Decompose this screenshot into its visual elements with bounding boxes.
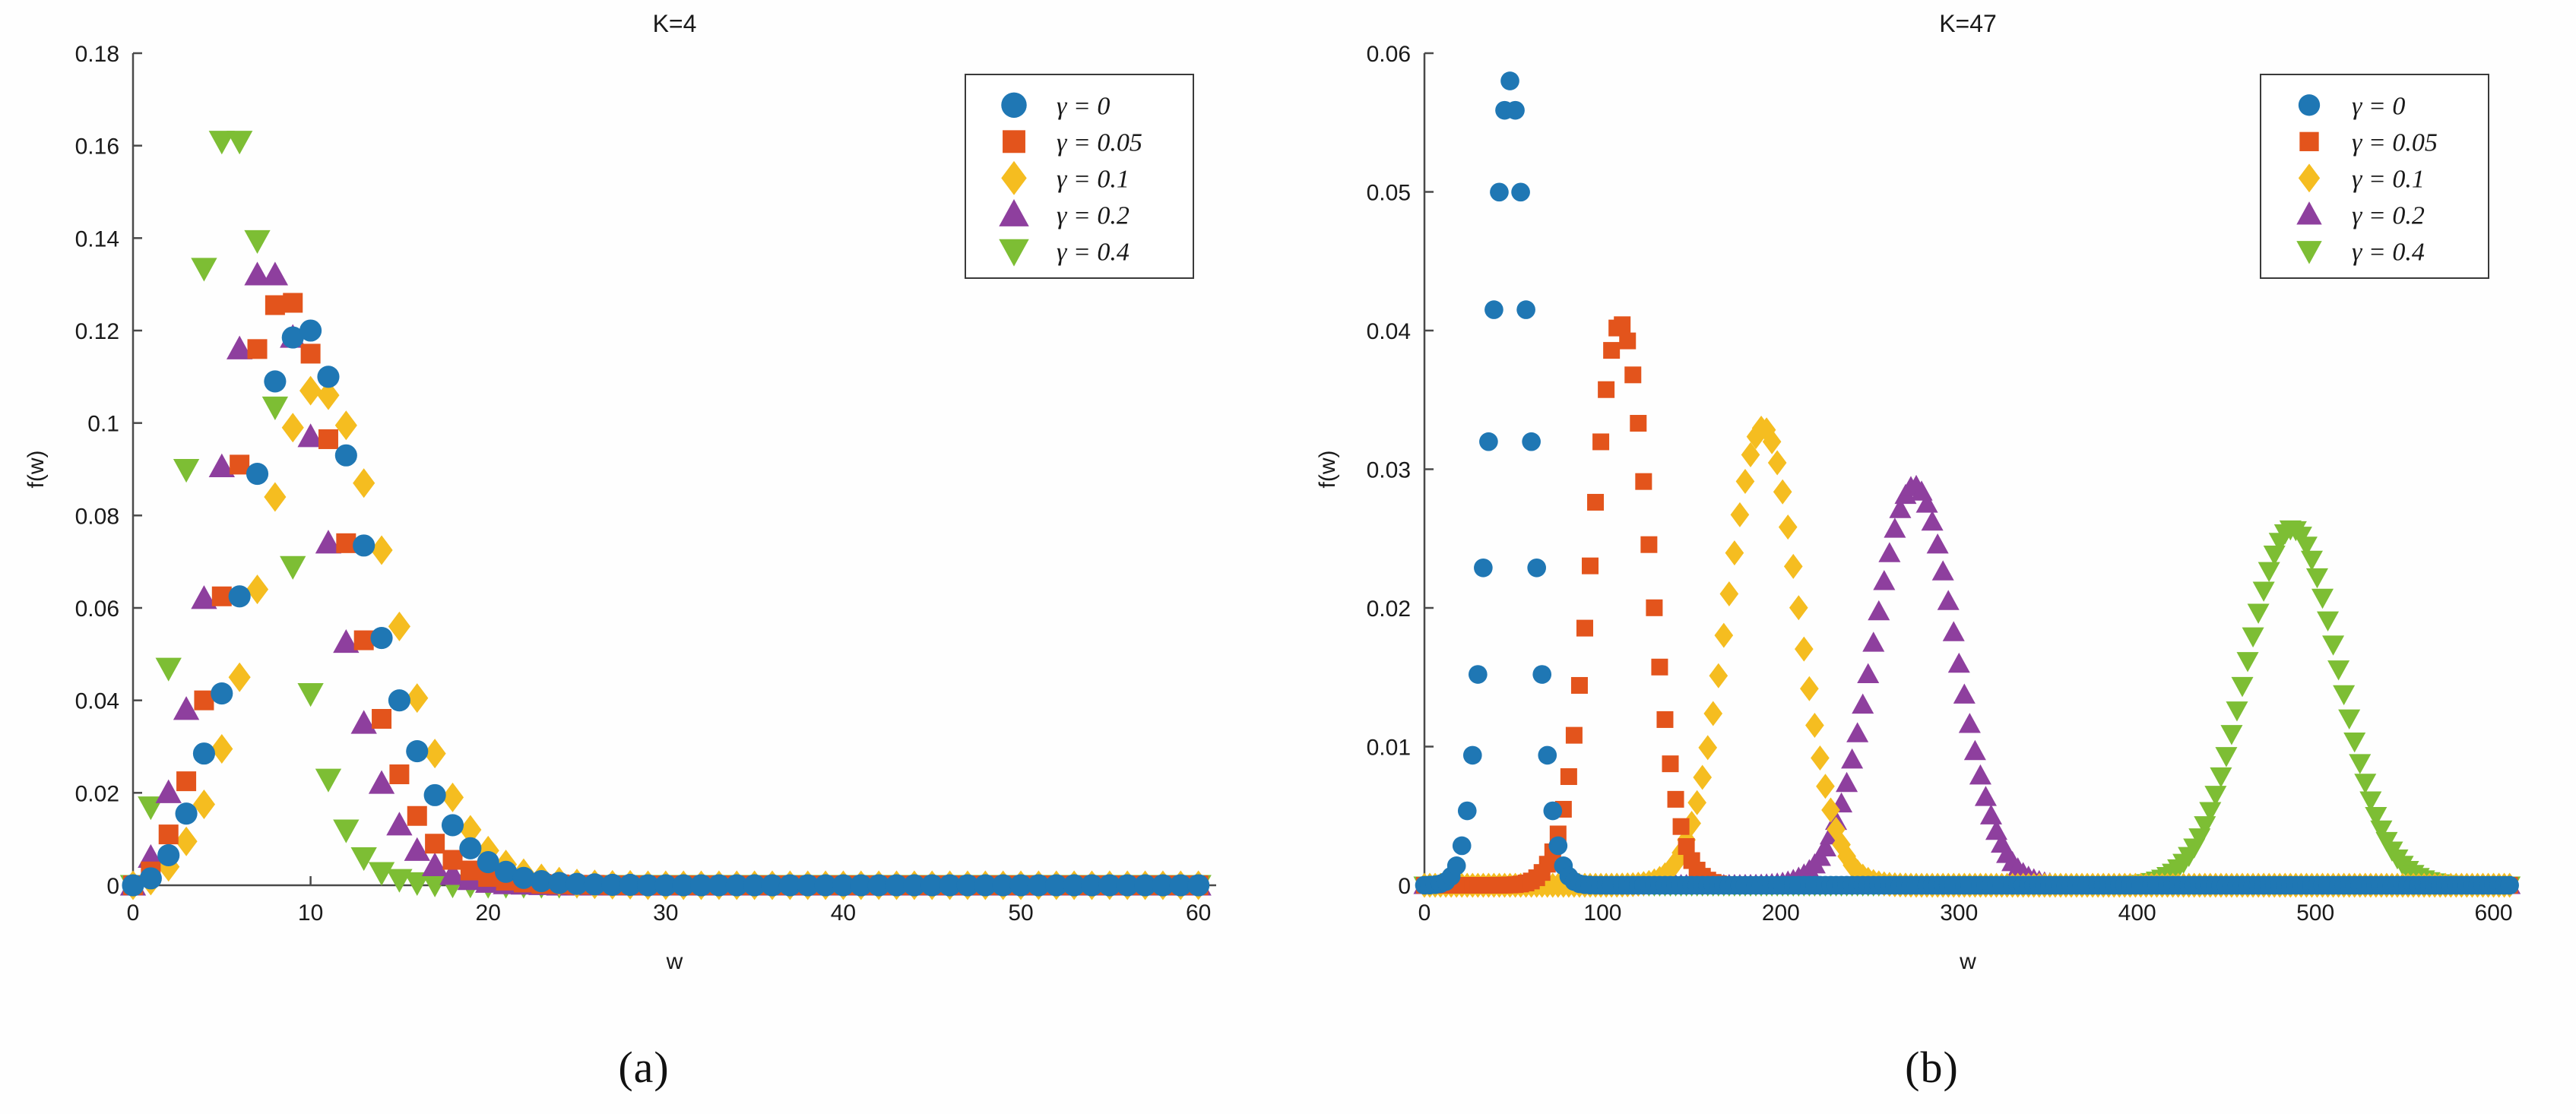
- data-point: [1592, 433, 1609, 450]
- panel-b-x-tick-label-6: 600: [2475, 900, 2513, 926]
- data-point: [264, 370, 286, 392]
- data-point: [1516, 300, 1535, 319]
- panel-b-caption: (b): [1288, 1042, 2576, 1093]
- data-point: [1527, 559, 1546, 578]
- data-point: [1548, 837, 1567, 856]
- data-point: [317, 366, 339, 388]
- data-point: [1614, 316, 1630, 333]
- data-point: [1479, 432, 1498, 451]
- panel-a-y-tick-label-8: 0.16: [75, 135, 119, 160]
- data-point: [1522, 432, 1541, 451]
- panel-a: 00.020.040.060.080.10.120.140.160.180102…: [0, 0, 1288, 1114]
- data-point: [1709, 663, 1728, 688]
- data-point: [1458, 802, 1477, 821]
- data-point: [335, 410, 357, 440]
- data-point: [1598, 381, 1614, 398]
- data-point: [1953, 684, 1976, 704]
- data-point: [389, 764, 409, 784]
- data-point: [1506, 101, 1525, 120]
- panel-b-x-tick-label-3: 300: [1940, 900, 1978, 926]
- data-point: [407, 806, 427, 826]
- panel-b-y-tick-label-4: 0.04: [1367, 319, 1411, 344]
- figure-container: 00.020.040.060.080.10.120.140.160.180102…: [0, 0, 2576, 1114]
- panel-b-y-tick-label-1: 0.01: [1367, 736, 1411, 761]
- data-point: [2354, 774, 2376, 793]
- panel-a-y-tick-label-2: 0.04: [75, 689, 119, 714]
- data-point: [230, 454, 249, 474]
- data-point: [1651, 659, 1668, 676]
- data-point: [442, 814, 464, 836]
- data-point: [229, 585, 251, 607]
- data-point: [1687, 790, 1706, 815]
- data-point: [2226, 701, 2248, 721]
- data-point: [1630, 415, 1646, 432]
- data-point: [211, 682, 233, 704]
- data-point: [227, 131, 252, 154]
- data-point: [1862, 631, 1884, 651]
- data-point: [1619, 333, 1636, 350]
- data-point: [442, 850, 462, 870]
- panel-b-x-tick-label-0: 0: [1418, 900, 1431, 926]
- data-point: [2237, 652, 2259, 672]
- panel-a-y-tick-label-9: 0.18: [75, 42, 119, 67]
- data-point: [1779, 514, 1798, 540]
- panel-a-series-3: [120, 261, 1212, 895]
- data-point: [1576, 620, 1593, 637]
- data-point: [2220, 725, 2242, 745]
- data-point: [1673, 818, 1690, 835]
- data-point: [1736, 469, 1755, 494]
- panel-a-x-tick-label-2: 20: [476, 900, 501, 926]
- data-point: [335, 445, 357, 467]
- data-point: [244, 230, 270, 254]
- data-point: [1453, 837, 1472, 856]
- data-point: [336, 533, 356, 553]
- circle-marker: [1001, 93, 1026, 118]
- data-point: [1857, 663, 1879, 683]
- data-point: [1800, 676, 1819, 701]
- data-point: [2338, 710, 2360, 729]
- data-point: [1698, 735, 1717, 760]
- data-point: [1532, 665, 1551, 684]
- data-point: [2242, 628, 2264, 647]
- circle-marker: [2299, 94, 2320, 116]
- square-marker: [2299, 132, 2318, 151]
- plot-a-svg: 00.020.040.060.080.10.120.140.160.180102…: [0, 0, 1288, 1011]
- data-point: [157, 844, 179, 866]
- data-point: [1635, 473, 1652, 490]
- data-point: [2215, 747, 2237, 767]
- data-point: [140, 867, 162, 889]
- square-marker: [1003, 130, 1025, 153]
- data-point: [1784, 554, 1803, 579]
- data-point: [265, 296, 285, 315]
- legend-label-4: γ = 0.4: [2352, 238, 2425, 266]
- data-point: [1773, 479, 1792, 505]
- data-point: [318, 429, 338, 449]
- data-point: [1922, 511, 1944, 530]
- data-point: [2258, 562, 2280, 582]
- data-point: [193, 742, 215, 764]
- data-point: [173, 459, 199, 483]
- panel-a-x-tick-label-3: 30: [653, 900, 678, 926]
- data-point: [2306, 568, 2328, 588]
- data-point: [176, 771, 196, 791]
- data-point: [1725, 540, 1744, 565]
- plot-b-svg: 00.010.020.030.040.050.06010020030040050…: [1288, 0, 2576, 1011]
- data-point: [315, 769, 341, 793]
- panel-b-y-tick-label-0: 0: [1398, 874, 1411, 899]
- data-point: [1693, 765, 1712, 790]
- data-point: [280, 556, 306, 580]
- data-point: [1668, 791, 1684, 808]
- data-point: [1469, 665, 1488, 684]
- legend-item-1[interactable]: γ = 0.05: [1003, 128, 1142, 157]
- data-point: [1795, 637, 1814, 662]
- data-point: [264, 483, 286, 512]
- data-point: [2210, 767, 2232, 787]
- data-point: [191, 258, 217, 281]
- data-point: [1975, 786, 1997, 805]
- legend-label-3: γ = 0.2: [1057, 201, 1130, 229]
- data-point: [1836, 772, 1858, 792]
- panel-b-x-tick-label-2: 200: [1762, 900, 1800, 926]
- data-point: [1187, 874, 1209, 896]
- data-point: [246, 463, 268, 485]
- data-point: [1720, 581, 1739, 606]
- data-point: [333, 819, 359, 843]
- legend-label-1: γ = 0.05: [2352, 128, 2438, 157]
- legend-label-2: γ = 0.1: [2352, 165, 2425, 193]
- panel-b-y-tick-label-5: 0.05: [1367, 181, 1411, 206]
- data-point: [1980, 804, 2002, 824]
- data-point: [1566, 727, 1583, 744]
- panel-a-y-axis-label: f(w): [24, 451, 49, 489]
- data-point: [1884, 517, 1906, 537]
- data-point: [282, 413, 304, 442]
- panel-a-x-tick-label-0: 0: [127, 900, 140, 926]
- data-point: [1943, 621, 1965, 641]
- data-point: [2343, 733, 2365, 752]
- legend[interactable]: γ = 0γ = 0.05γ = 0.1γ = 0.2γ = 0.4: [2261, 74, 2489, 278]
- data-point: [1768, 451, 1787, 476]
- legend-label-2: γ = 0.1: [1057, 165, 1130, 193]
- data-point: [353, 534, 375, 556]
- data-point: [1927, 533, 1949, 553]
- data-point: [354, 631, 374, 650]
- panel-a-caption: (a): [0, 1042, 1288, 1093]
- data-point: [2231, 677, 2253, 697]
- data-point: [1603, 342, 1620, 359]
- data-point: [1571, 677, 1588, 694]
- data-point: [1805, 713, 1824, 738]
- data-point: [229, 663, 251, 692]
- panel-b-x-tick-label-5: 500: [2296, 900, 2334, 926]
- data-point: [1964, 740, 1986, 760]
- data-point: [1852, 694, 1874, 714]
- data-point: [1948, 653, 1970, 673]
- data-point: [1662, 755, 1679, 772]
- data-point: [1511, 182, 1530, 201]
- data-point: [1474, 559, 1493, 578]
- data-point: [248, 339, 268, 359]
- panel-a-x-tick-label-5: 50: [1008, 900, 1033, 926]
- legend-label-0: γ = 0: [2352, 92, 2405, 120]
- data-point: [159, 824, 179, 844]
- data-point: [1938, 590, 1960, 609]
- data-point: [388, 689, 410, 711]
- panel-b-x-axis-label: w: [1959, 949, 1976, 974]
- data-point: [2333, 685, 2355, 705]
- data-point: [299, 319, 322, 341]
- data-point: [2349, 754, 2371, 774]
- panel-b-x-tick-label-4: 400: [2118, 900, 2156, 926]
- data-point: [1624, 366, 1641, 383]
- panel-b-series-4: [1413, 521, 2521, 897]
- legend-label-0: γ = 0: [1057, 92, 1110, 120]
- data-point: [1646, 600, 1662, 616]
- panel-a-y-tick-label-1: 0.02: [75, 781, 119, 806]
- data-point: [1959, 713, 1981, 733]
- data-point: [1582, 558, 1599, 574]
- data-point: [297, 683, 323, 707]
- panel-b-x-tick-label-1: 100: [1583, 900, 1621, 926]
- legend-label-4: γ = 0.4: [1057, 238, 1130, 266]
- data-point: [1731, 502, 1750, 527]
- panel-a-x-tick-label-4: 40: [831, 900, 856, 926]
- panel-b-y-axis-label: f(w): [1315, 451, 1340, 489]
- data-point: [1538, 746, 1557, 765]
- data-point: [1463, 746, 1482, 765]
- data-point: [2311, 589, 2334, 609]
- data-point: [2500, 876, 2519, 895]
- data-point: [1873, 570, 1895, 590]
- data-point: [2248, 603, 2270, 623]
- data-point: [1587, 494, 1604, 511]
- data-point: [1841, 748, 1863, 768]
- data-point: [2327, 660, 2349, 680]
- data-point: [1656, 711, 1673, 728]
- panel-b-plot-title: K=47: [1939, 10, 1997, 37]
- panel-a-x-axis-label: w: [666, 949, 683, 974]
- panel-a-y-tick-label-6: 0.12: [75, 319, 119, 344]
- data-point: [1543, 802, 1562, 821]
- panel-a-y-tick-label-4: 0.08: [75, 504, 119, 529]
- panel-a-y-tick-label-7: 0.14: [75, 226, 119, 252]
- data-point: [372, 709, 391, 729]
- data-point: [1560, 768, 1577, 785]
- panel-a-series-0: [122, 319, 1209, 896]
- data-point: [370, 627, 392, 649]
- data-point: [1969, 764, 1991, 784]
- data-point: [1447, 856, 1466, 875]
- data-point: [1811, 745, 1830, 771]
- panel-b-series-1: [1416, 316, 2518, 894]
- panel-a-x-tick-label-1: 10: [298, 900, 323, 926]
- data-point: [1703, 701, 1722, 726]
- data-point: [1715, 623, 1734, 648]
- data-point: [283, 293, 303, 313]
- panel-b-y-tick-label-2: 0.02: [1367, 597, 1411, 622]
- data-point: [2317, 612, 2339, 631]
- data-point: [262, 397, 288, 420]
- panel-a-y-tick-label-5: 0.1: [87, 412, 119, 437]
- data-point: [1846, 722, 1868, 742]
- data-point: [262, 261, 288, 285]
- panel-a-y-tick-label-0: 0: [106, 874, 119, 899]
- legend[interactable]: γ = 0γ = 0.05γ = 0.1γ = 0.2γ = 0.4: [965, 74, 1193, 278]
- data-point: [1500, 71, 1519, 90]
- data-point: [176, 802, 198, 824]
- panel-b-y-tick-label-3: 0.03: [1367, 458, 1411, 483]
- data-point: [424, 784, 446, 806]
- panel-a-series-2: [122, 376, 1209, 900]
- data-point: [2301, 551, 2323, 571]
- data-point: [1816, 774, 1835, 799]
- data-point: [156, 658, 182, 682]
- data-point: [425, 834, 445, 853]
- data-point: [2253, 581, 2275, 601]
- data-point: [1878, 542, 1900, 562]
- data-point: [301, 343, 321, 363]
- panel-a-plot-title: K=4: [653, 10, 697, 37]
- legend-label-1: γ = 0.05: [1057, 128, 1142, 157]
- panel-b: 00.010.020.030.040.050.06010020030040050…: [1288, 0, 2576, 1114]
- data-point: [1484, 300, 1503, 319]
- data-point: [459, 837, 481, 859]
- panel-b-series-2: [1415, 416, 2519, 897]
- panel-a-x-tick-label-6: 60: [1186, 900, 1211, 926]
- panel-b-y-tick-label-6: 0.06: [1367, 42, 1411, 67]
- data-point: [1868, 600, 1890, 620]
- panel-a-y-tick-label-3: 0.06: [75, 597, 119, 622]
- data-point: [1932, 560, 1954, 580]
- data-point: [2322, 635, 2344, 655]
- data-point: [1490, 182, 1509, 201]
- legend-label-3: γ = 0.2: [2352, 201, 2425, 229]
- data-point: [1640, 536, 1657, 553]
- data-point: [353, 468, 375, 498]
- data-point: [1789, 595, 1808, 620]
- data-point: [406, 740, 428, 762]
